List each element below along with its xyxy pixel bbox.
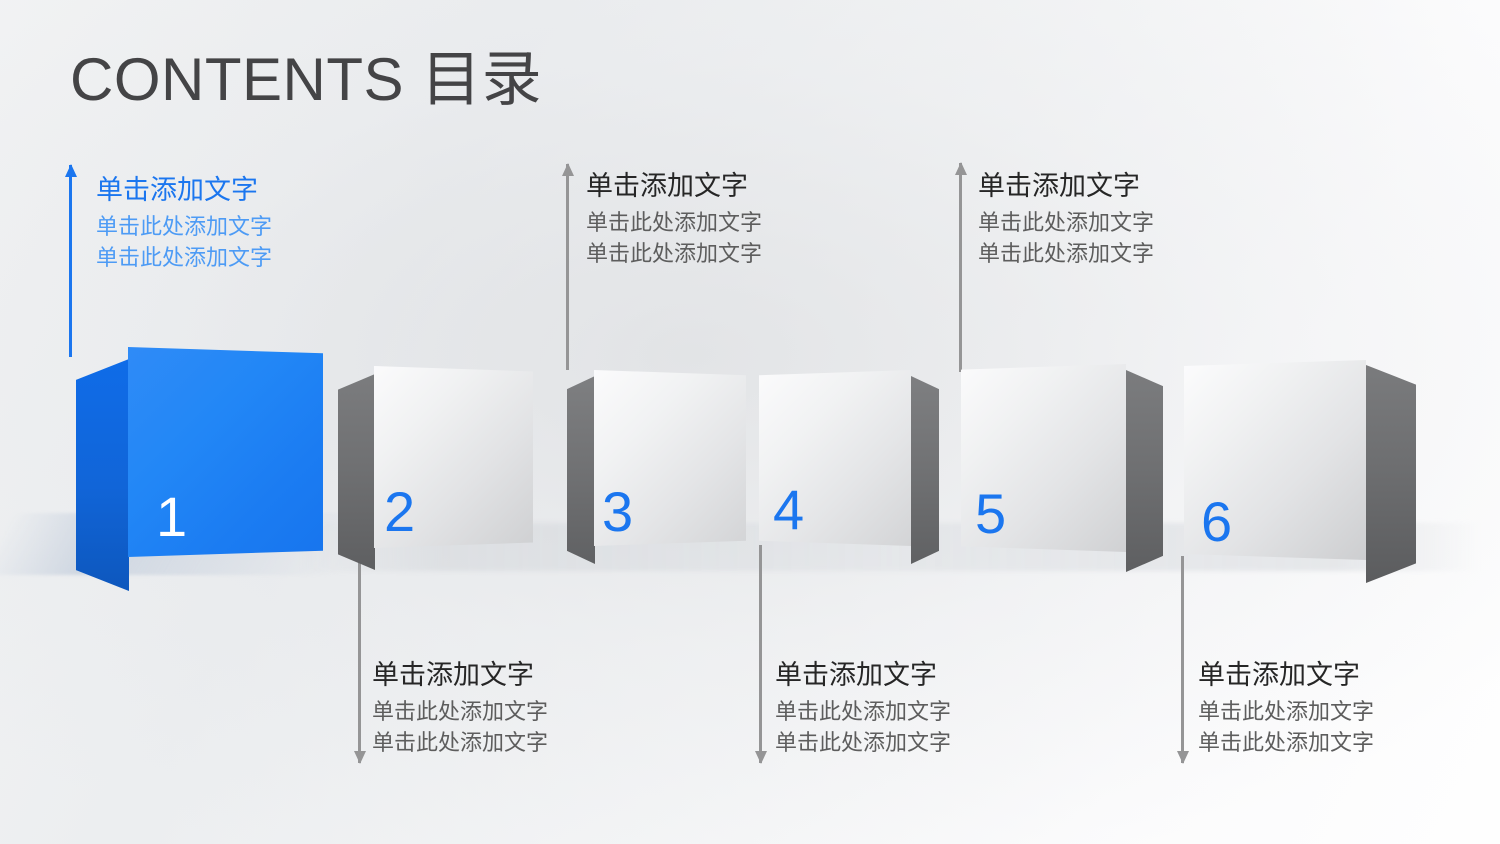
cube-5[interactable]: 5: [961, 364, 1126, 552]
item-line-6-1: 单击此处添加文字: [1198, 696, 1374, 727]
connector-4: [759, 545, 762, 763]
cube-4-number: 4: [773, 482, 804, 538]
arrow-head-up-icon-5: [955, 162, 967, 175]
item-line-2-1: 单击此处添加文字: [372, 696, 548, 727]
cube-3[interactable]: 3: [594, 370, 746, 546]
text-block-3: 单击添加文字 单击此处添加文字 单击此处添加文字: [586, 168, 762, 269]
connector-line-2: [358, 548, 361, 763]
connector-6: [1181, 556, 1184, 763]
item-line-1-1: 单击此处添加文字: [96, 211, 272, 242]
connector-3: [566, 164, 569, 370]
connector-line-5: [959, 163, 962, 372]
item-heading-4: 单击添加文字: [775, 657, 951, 693]
connector-line-4: [759, 545, 762, 763]
cube-2-number: 2: [384, 484, 415, 540]
text-block-2: 单击添加文字 单击此处添加文字 单击此处添加文字: [372, 657, 548, 758]
arrow-head-up-icon-1: [65, 164, 77, 177]
cube-5-side-face: [1126, 370, 1163, 572]
cube-2[interactable]: 2: [374, 366, 533, 548]
cube-4-side-face: [911, 376, 939, 564]
item-heading-2: 单击添加文字: [372, 657, 548, 693]
item-line-3-1: 单击此处添加文字: [586, 207, 762, 238]
cube-3-side-face: [567, 376, 595, 564]
item-line-5-1: 单击此处添加文字: [978, 207, 1154, 238]
connector-line-6: [1181, 556, 1184, 763]
slide-canvas: CONTENTS 目录 单击添加文字 单击此处添加文字 单击此处添加文字 1 单…: [0, 0, 1500, 844]
item-line-4-2: 单击此处添加文字: [775, 727, 951, 758]
item-line-2-2: 单击此处添加文字: [372, 727, 548, 758]
text-block-1: 单击添加文字 单击此处添加文字 单击此处添加文字: [96, 172, 272, 273]
cube-4[interactable]: 4: [759, 370, 911, 546]
item-heading-3: 单击添加文字: [586, 168, 762, 204]
connector-1: [69, 165, 72, 357]
arrow-head-down-icon-4: [755, 751, 767, 764]
connector-line-1: [69, 165, 72, 357]
connector-2: [358, 548, 361, 763]
connector-5: [959, 163, 962, 372]
cube-6-side-face: [1366, 365, 1416, 583]
cube-1[interactable]: 1: [128, 347, 323, 557]
item-heading-6: 单击添加文字: [1198, 657, 1374, 693]
item-heading-1: 单击添加文字: [96, 172, 272, 208]
item-line-5-2: 单击此处添加文字: [978, 238, 1154, 269]
text-block-6: 单击添加文字 单击此处添加文字 单击此处添加文字: [1198, 657, 1374, 758]
text-block-5: 单击添加文字 单击此处添加文字 单击此处添加文字: [978, 168, 1154, 269]
arrow-head-up-icon-3: [562, 163, 574, 176]
item-line-4-1: 单击此处添加文字: [775, 696, 951, 727]
item-line-1-2: 单击此处添加文字: [96, 242, 272, 273]
cube-3-number: 3: [602, 484, 633, 540]
cube-1-number: 1: [156, 489, 187, 545]
text-block-4: 单击添加文字 单击此处添加文字 单击此处添加文字: [775, 657, 951, 758]
cube-5-number: 5: [975, 486, 1006, 542]
item-line-6-2: 单击此处添加文字: [1198, 727, 1374, 758]
arrow-head-down-icon-6: [1177, 751, 1189, 764]
cube-6-number: 6: [1201, 494, 1232, 550]
item-heading-5: 单击添加文字: [978, 168, 1154, 204]
cube-1-side-face: [76, 359, 129, 591]
cube-2-side-face: [338, 374, 375, 570]
cube-6[interactable]: 6: [1184, 360, 1366, 560]
arrow-head-down-icon-2: [354, 751, 366, 764]
item-line-3-2: 单击此处添加文字: [586, 238, 762, 269]
connector-line-3: [566, 164, 569, 370]
page-title: CONTENTS 目录: [70, 44, 542, 116]
